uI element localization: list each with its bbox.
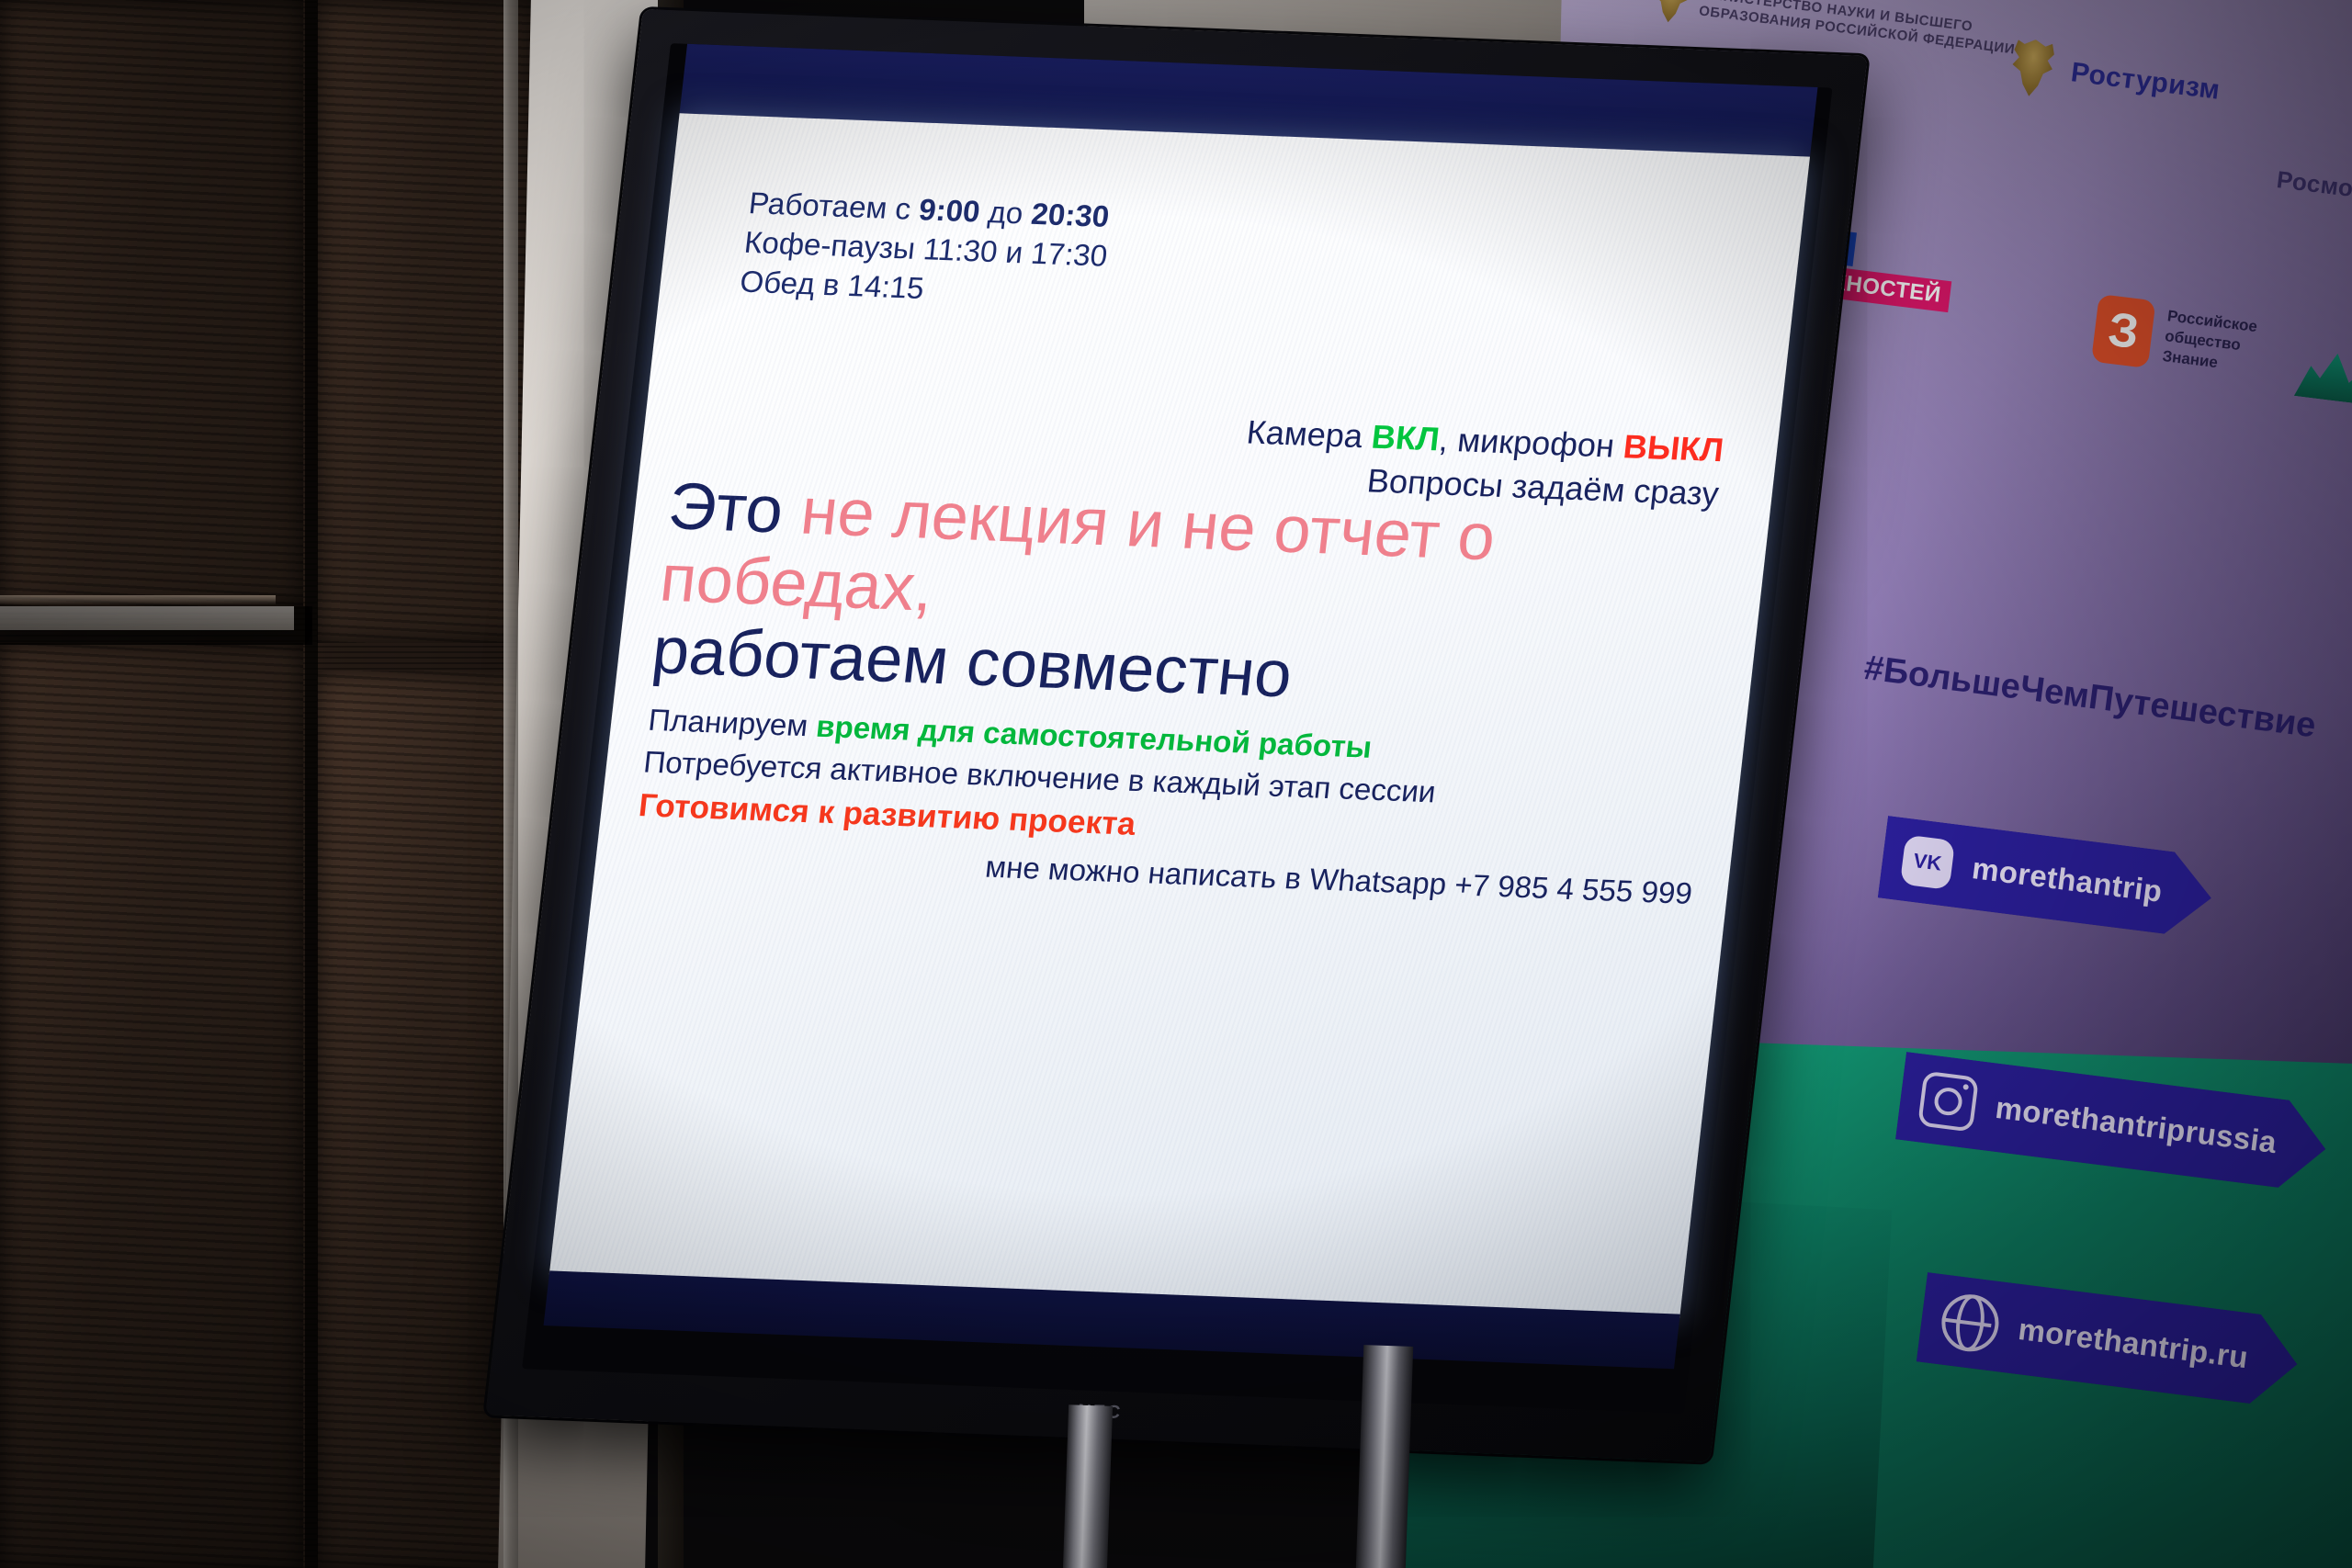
camera-state-badge: ВКЛ xyxy=(1370,418,1442,458)
schedule-block: Работаем с 9:00 до 20:30 Кофе-паузы 11:3… xyxy=(738,184,1114,315)
contact-line: мне можно написать в Whatsapp +7 985 4 5… xyxy=(825,843,1694,911)
display-stand-pole-right xyxy=(1356,1345,1414,1568)
schedule-line1-prefix: Работаем с xyxy=(747,186,921,226)
schedule-end-time: 20:30 xyxy=(1030,197,1112,233)
screenshot-root: МИНИСТЕРСТВО НАУКИ И ВЫСШЕГО ОБРАЗОВАНИЯ… xyxy=(0,0,2352,1568)
shelf-edge-glint xyxy=(0,595,276,604)
slide-content: Работаем с 9:00 до 20:30 Кофе-паузы 11:3… xyxy=(549,113,1810,1317)
wood-seam-vertical xyxy=(305,0,318,1568)
rostourism-crest-icon xyxy=(2005,37,2059,99)
display-stand-pole-left xyxy=(1063,1404,1113,1568)
wood-panel-lower xyxy=(0,643,303,1568)
globe-icon xyxy=(1939,1292,2002,1355)
camera-prefix: Камера xyxy=(1245,413,1374,456)
znanie-z-icon xyxy=(2091,294,2156,368)
instagram-icon xyxy=(1917,1071,1979,1133)
schedule-line1-middle: до xyxy=(978,195,1034,231)
mic-state-badge: ВЫКЛ xyxy=(1622,427,1725,468)
social-label-instagram: morethantriprussia xyxy=(1994,1090,2278,1160)
wood-panel-upper xyxy=(0,0,303,606)
headline-part-1: Это xyxy=(664,469,805,547)
slide-screen: Работаем с 9:00 до 20:30 Кофе-паузы 11:3… xyxy=(549,113,1810,1317)
znanie-line-3: Знание xyxy=(2162,347,2219,371)
znanie-label: Российское общество Знание xyxy=(2161,306,2258,378)
point-1-prefix: Планируем xyxy=(647,703,819,743)
rostourism-label: Ростуризм xyxy=(2069,57,2222,106)
vk-icon xyxy=(1900,835,1955,890)
wall-shelf xyxy=(0,606,294,630)
mic-prefix: , микрофон xyxy=(1437,421,1625,465)
slide-headline: Это не лекция и не отчет о победах, рабо… xyxy=(649,470,1769,729)
social-label-vk: morethantrip xyxy=(1970,851,2164,909)
presentation-display: Работаем с 9:00 до 20:30 Кофе-паузы 11:3… xyxy=(475,9,1923,1555)
social-label-website: morethantrip.ru xyxy=(2017,1312,2250,1375)
slide-points: Планируем время для самостоятельной рабо… xyxy=(637,699,1443,859)
schedule-start-time: 9:00 xyxy=(917,192,981,228)
